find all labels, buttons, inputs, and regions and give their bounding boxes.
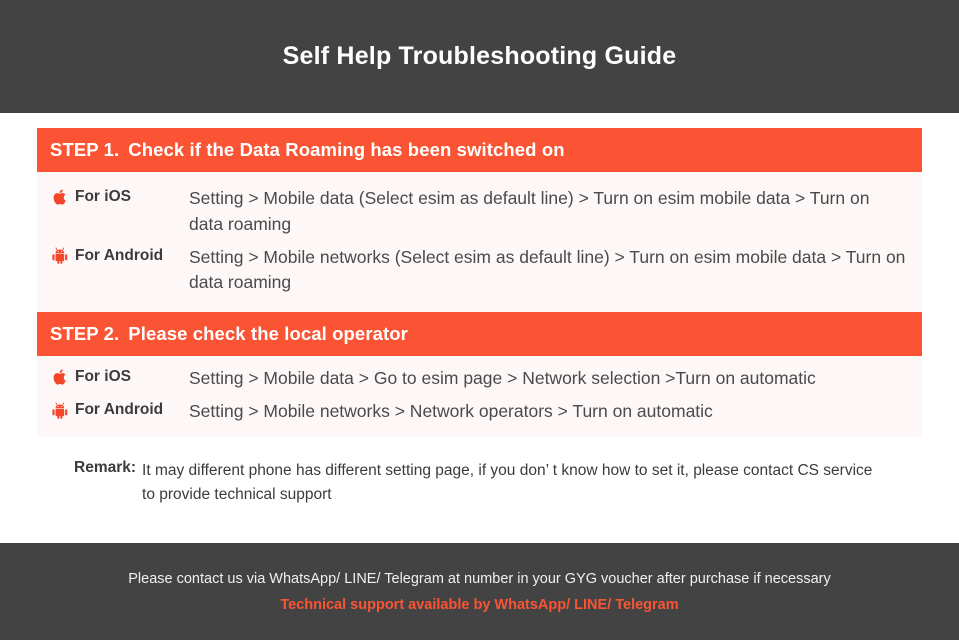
apple-icon: [51, 367, 68, 387]
step-1-ios-instruction: Setting > Mobile data (Select esim as de…: [189, 186, 908, 237]
remark-text: It may different phone has different set…: [142, 459, 885, 507]
footer-contact-line: Please contact us via WhatsApp/ LINE/ Te…: [128, 568, 831, 591]
platform-ios: For iOS: [51, 186, 189, 207]
platform-label: For iOS: [75, 188, 131, 206]
platform-android: For Android: [51, 245, 189, 266]
step-2-header: STEP 2.Please check the local operator: [37, 312, 922, 356]
step-2-row-ios: For iOS Setting > Mobile data > Go to es…: [37, 362, 922, 395]
step-1-panel: For iOS Setting > Mobile data (Select es…: [37, 172, 922, 312]
remark-section: Remark: It may different phone has diffe…: [37, 437, 922, 507]
step-1-row-ios: For iOS Setting > Mobile data (Select es…: [37, 182, 922, 241]
page-footer: Please contact us via WhatsApp/ LINE/ Te…: [0, 543, 959, 640]
step-1-android-instruction: Setting > Mobile networks (Select esim a…: [189, 245, 908, 296]
platform-ios: For iOS: [51, 366, 189, 387]
footer-support-line: Technical support available by WhatsApp/…: [280, 594, 678, 617]
step-1-title: Check if the Data Roaming has been switc…: [128, 139, 564, 160]
step-2-number: STEP 2.: [50, 323, 119, 344]
step-2-row-android: For Android Setting > Mobile networks > …: [37, 395, 922, 428]
apple-icon: [51, 187, 68, 207]
platform-android: For Android: [51, 399, 189, 420]
page-header: Self Help Troubleshooting Guide: [0, 0, 959, 113]
platform-label: For iOS: [75, 368, 131, 386]
android-icon: [51, 246, 68, 266]
step-2-title: Please check the local operator: [128, 323, 408, 344]
main-content: STEP 1.Check if the Data Roaming has bee…: [0, 113, 959, 543]
page-title: Self Help Troubleshooting Guide: [283, 42, 677, 71]
step-1-row-android: For Android Setting > Mobile networks (S…: [37, 241, 922, 300]
remark-label: Remark:: [74, 459, 136, 477]
platform-label: For Android: [75, 401, 163, 419]
step-2-ios-instruction: Setting > Mobile data > Go to esim page …: [189, 366, 908, 391]
troubleshooting-guide-page: Self Help Troubleshooting Guide STEP 1.C…: [0, 0, 959, 640]
platform-label: For Android: [75, 247, 163, 265]
android-icon: [51, 400, 68, 420]
step-1-number: STEP 1.: [50, 139, 119, 160]
step-2-panel: For iOS Setting > Mobile data > Go to es…: [37, 356, 922, 437]
step-2-android-instruction: Setting > Mobile networks > Network oper…: [189, 399, 908, 424]
step-1-header: STEP 1.Check if the Data Roaming has bee…: [37, 128, 922, 172]
